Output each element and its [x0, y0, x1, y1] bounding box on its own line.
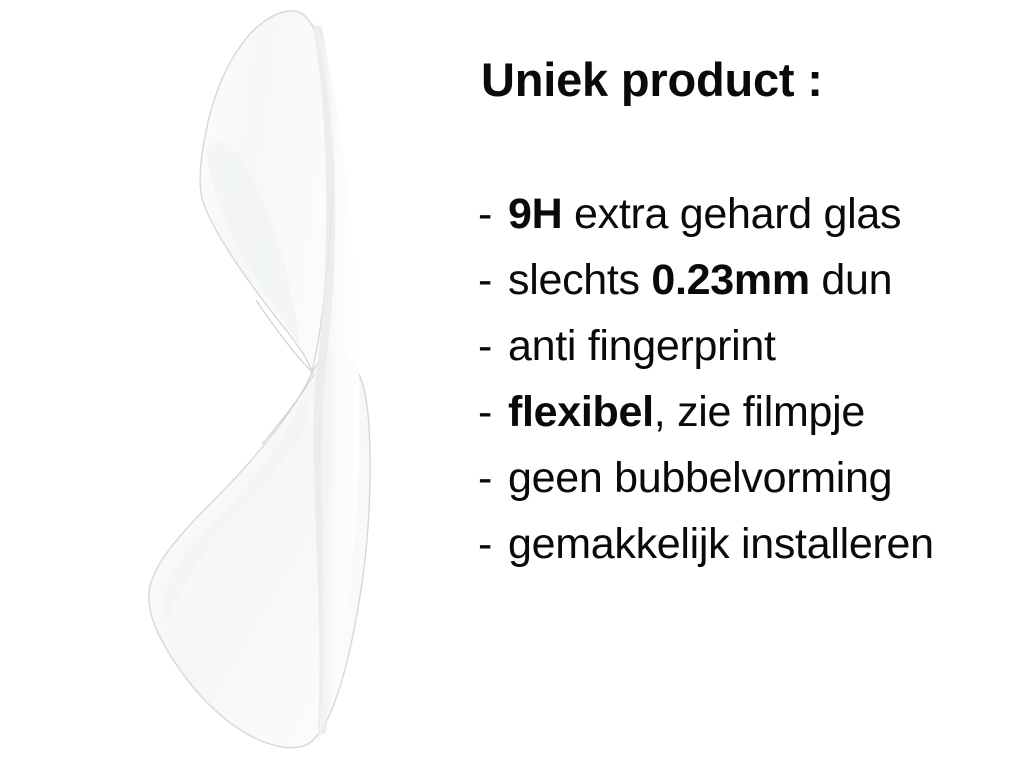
glass-illustration: [0, 0, 460, 768]
bullet-dash-icon: -: [478, 313, 508, 379]
bullet-dash-icon: -: [478, 445, 508, 511]
feature-text: slechts: [508, 256, 651, 304]
feature-list: -9H extra gehard glas -slechts 0.23mm du…: [478, 181, 1024, 577]
bullet-dash-icon: -: [478, 247, 508, 313]
feature-item-anti-fingerprint: -anti fingerprint: [478, 313, 1024, 379]
feature-text: extra gehard glas: [562, 190, 901, 238]
feature-text: , zie filmpje: [654, 388, 865, 436]
feature-item-no-bubbles: -geen bubbelvorming: [478, 445, 1024, 511]
feature-text: dun: [810, 256, 893, 304]
feature-text: gemakkelijk installeren: [508, 520, 934, 568]
product-promo-page: Uniek product : -9H extra gehard glas -s…: [0, 0, 1024, 768]
feature-text: geen bubbelvorming: [508, 454, 892, 502]
bullet-dash-icon: -: [478, 511, 508, 577]
bullet-dash-icon: -: [478, 181, 508, 247]
page-title: Uniek product :: [481, 55, 823, 104]
feature-strong-text: 0.23mm: [651, 256, 809, 304]
bullet-dash-icon: -: [478, 379, 508, 445]
feature-text: anti fingerprint: [508, 322, 776, 370]
feature-item-flexible: -flexibel, zie filmpje: [478, 379, 1024, 445]
product-text-column: Uniek product : -9H extra gehard glas -s…: [470, 0, 1024, 768]
feature-item-9h: -9H extra gehard glas: [478, 181, 1024, 247]
feature-item-thickness: -slechts 0.23mm dun: [478, 247, 1024, 313]
product-image-glass-protector: [0, 0, 460, 768]
feature-item-easy-install: -gemakkelijk installeren: [478, 511, 1024, 577]
feature-strong-text: 9H: [508, 190, 562, 238]
feature-strong-text: flexibel: [508, 388, 654, 436]
